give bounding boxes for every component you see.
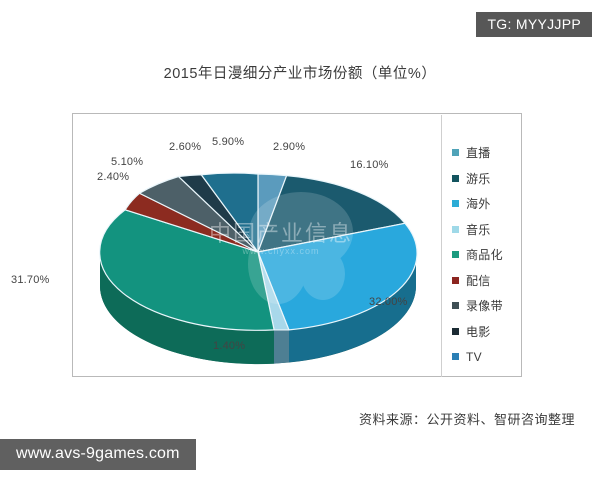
page-title: 2015年日漫细分产业市场份额（单位%） [0,62,600,83]
legend-label: 游乐 [466,170,491,187]
pie-chart-plot-area: 中国产业信息 www.chyxx.com 2.90% 16.10% 32.00%… [73,114,441,376]
legend-label: TV [466,350,482,364]
legend-item-luxiangdai[interactable]: 录像带 [452,293,538,319]
legend-item-shangpinhua[interactable]: 商品化 [452,242,538,268]
data-label-youle: 16.10% [350,159,389,171]
data-label-zhibo: 2.90% [273,141,305,153]
data-label-luxiangdai: 5.10% [111,156,143,168]
legend-item-peixin[interactable]: 配信 [452,268,538,294]
legend-item-youle[interactable]: 游乐 [452,166,538,192]
legend-item-haiwai[interactable]: 海外 [452,191,538,217]
data-label-yinyue: 1.40% [213,340,245,352]
legend-label: 直播 [466,144,491,161]
data-label-peixin: 2.40% [97,171,129,183]
source-note: 资料来源：公开资料、智研咨询整理 [0,409,575,428]
pie-chart-svg [73,114,441,376]
chart-legend: 直播 游乐 海外 音乐 商品化 配信 录像带 电影 [452,140,538,370]
legend-swatch-icon [452,200,459,207]
legend-swatch-icon [452,226,459,233]
legend-label: 配信 [466,272,491,289]
legend-label: 录像带 [466,297,503,314]
legend-swatch-icon [452,277,459,284]
legend-label: 电影 [466,323,491,340]
legend-label: 海外 [466,195,491,212]
legend-swatch-icon [452,302,459,309]
legend-swatch-icon [452,251,459,258]
legend-label: 商品化 [466,246,503,263]
legend-divider [441,115,442,377]
legend-item-tv[interactable]: TV [452,344,538,370]
legend-item-yinyue[interactable]: 音乐 [452,217,538,243]
legend-item-zhibo[interactable]: 直播 [452,140,538,166]
data-label-haiwai: 32.00% [369,296,408,308]
legend-swatch-icon [452,175,459,182]
tg-tag-badge: TG: MYYJJPP [476,12,592,37]
legend-swatch-icon [452,149,459,156]
data-label-dianying: 2.60% [169,141,201,153]
legend-swatch-icon [452,353,459,360]
data-label-shangpinhua: 31.70% [11,274,50,286]
site-watermark-badge: www.avs-9games.com [0,439,196,470]
chart-frame: 中国产业信息 www.chyxx.com 2.90% 16.10% 32.00%… [72,113,522,377]
watermark-logo-shape [248,192,353,304]
data-label-tv: 5.90% [212,136,244,148]
legend-label: 音乐 [466,221,491,238]
legend-item-dianying[interactable]: 电影 [452,319,538,345]
legend-swatch-icon [452,328,459,335]
